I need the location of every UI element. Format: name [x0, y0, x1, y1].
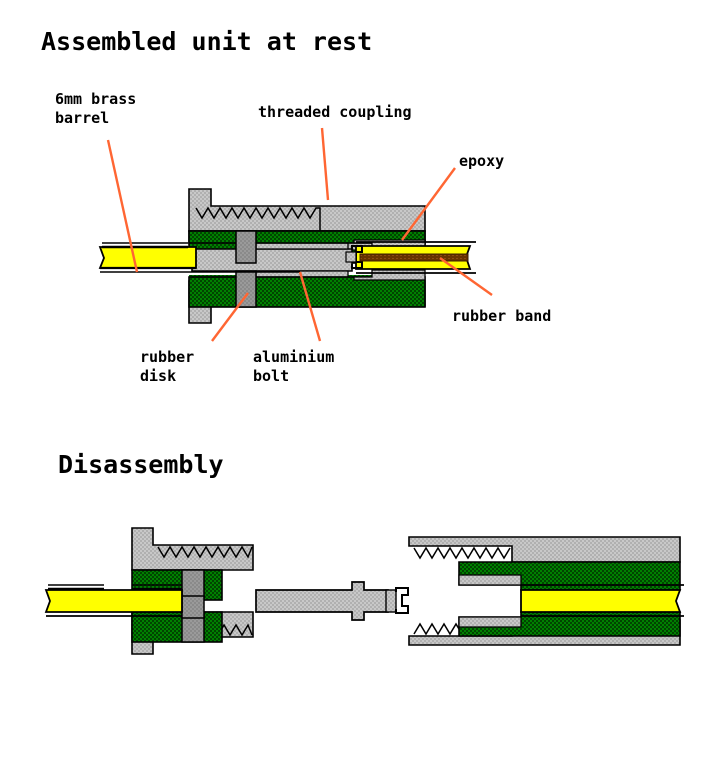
disassembly-group: [46, 528, 684, 654]
disassembly-left-piece: [46, 528, 253, 654]
brass-barrel: [46, 590, 182, 612]
disassembly-right-piece: [409, 537, 684, 645]
label-aluminium-bolt: aluminium bolt: [253, 348, 334, 386]
bolt-tip: [386, 590, 396, 612]
rubber-band: [360, 254, 468, 261]
label-brass-barrel: 6mm brass barrel: [55, 90, 136, 128]
label-epoxy: epoxy: [459, 152, 504, 171]
assembled-unit-group: [100, 189, 476, 323]
diagram-canvas: Assembled unit at rest Disassembly 6mm b…: [0, 0, 704, 770]
disassembly-bolt-piece: [256, 582, 408, 620]
label-rubber-disk: rubber disk: [140, 348, 194, 386]
threaded-coupling-upper: [189, 189, 425, 231]
thread-teeth-icon: [414, 548, 510, 558]
brass-barrel: [521, 590, 680, 612]
page-title-disassembly: Disassembly: [58, 450, 224, 479]
aluminium-bolt-body: [256, 582, 388, 620]
page-title-assembled: Assembled unit at rest: [41, 27, 372, 56]
label-rubber-band: rubber band: [452, 307, 551, 326]
internal-bore-upper: [459, 575, 521, 585]
leader-line-icon: [402, 168, 455, 240]
rubber-disk: [182, 596, 204, 618]
leader-line-icon: [322, 128, 328, 200]
internal-bore-lower: [459, 617, 521, 627]
hook-notch-icon: [396, 588, 408, 613]
label-threaded-coupling: threaded coupling: [258, 103, 412, 122]
